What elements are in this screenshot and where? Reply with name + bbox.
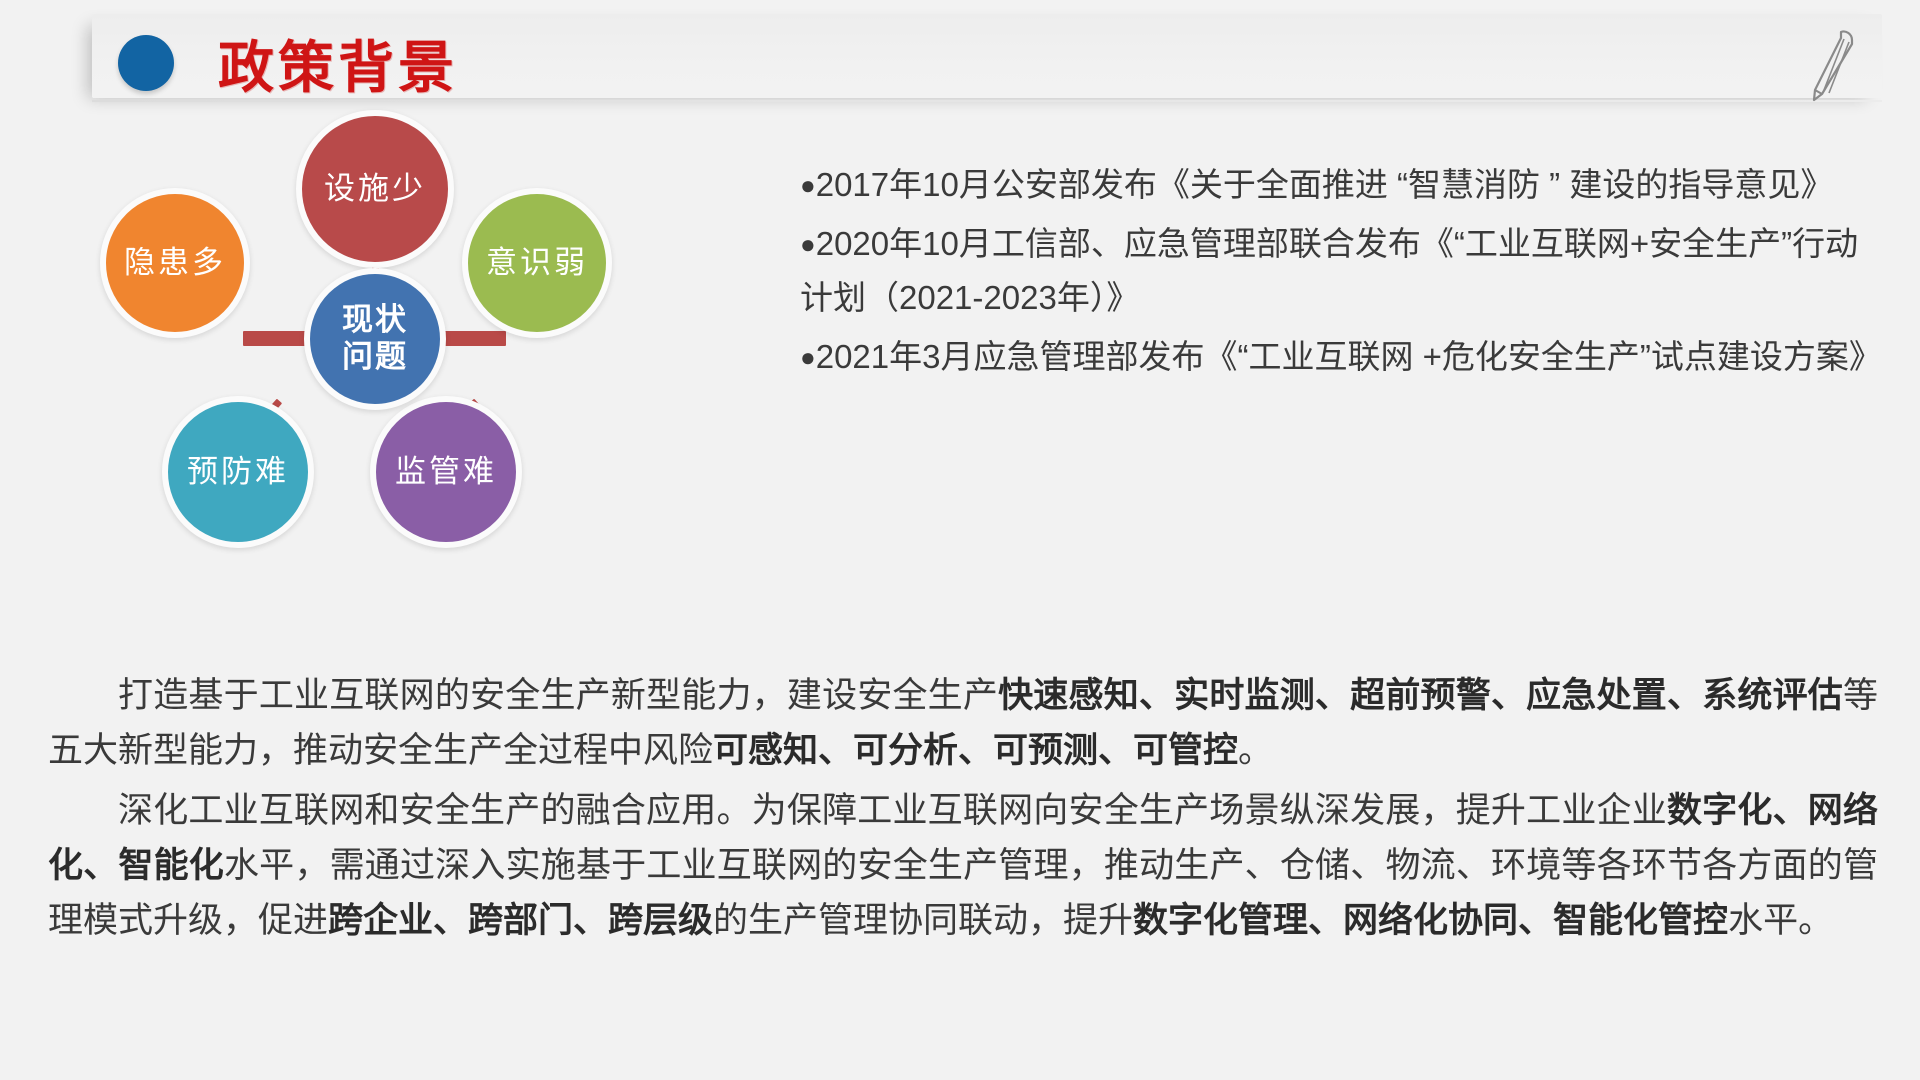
text-run: 。 — [1238, 731, 1273, 770]
text-run: 深化工业互联网和安全生产的融合应用。为保障工业互联网向安全生产场景纵深发展，提升… — [118, 791, 1667, 830]
diagram-node-top-label: 设施少 — [324, 171, 426, 208]
diagram-node-right-label: 意识弱 — [486, 245, 588, 282]
diagram-center-label-line1: 现状 — [342, 302, 408, 339]
policy-bullet-text: 2017年10月公安部发布《关于全面推进 “智慧消防 ” 建设的指导意见》 — [816, 166, 1834, 203]
diagram-node-center[interactable]: 现状 问题 — [304, 268, 446, 410]
para-2: 深化工业互联网和安全生产的融合应用。为保障工业互联网向安全生产场景纵深发展，提升… — [48, 783, 1878, 949]
connector-center-right — [438, 331, 506, 346]
title-bullet-circle-icon — [118, 35, 174, 91]
para-1: 打造基于工业互联网的安全生产新型能力，建设安全生产快速感知、实时监测、超前预警、… — [48, 668, 1878, 779]
pen-icon — [1800, 28, 1860, 104]
diagram-node-right[interactable]: 意识弱 — [462, 188, 612, 338]
diagram-node-bottom-right[interactable]: 监管难 — [370, 396, 522, 548]
policy-bullet-list: ●2017年10月公安部发布《关于全面推进 “智慧消防 ” 建设的指导意见》●2… — [800, 158, 1870, 390]
diagram-node-bottom-right-label: 监管难 — [395, 454, 497, 491]
diagram-center-label-line2: 问题 — [342, 339, 408, 376]
diagram-node-bottom-left[interactable]: 预防难 — [162, 396, 314, 548]
emphasis-run: 跨企业、跨部门、跨层级 — [328, 901, 713, 940]
diagram-node-left[interactable]: 隐患多 — [100, 188, 250, 338]
emphasis-run: 可感知、可分析、可预测、可管控 — [713, 731, 1238, 770]
text-run: 水平。 — [1728, 901, 1833, 940]
policy-bullet-item: ●2020年10月工信部、应急管理部联合发布《“工业互联网+安全生产”行动计划（… — [800, 217, 1870, 324]
body-paragraphs: 打造基于工业互联网的安全生产新型能力，建设安全生产快速感知、实时监测、超前预警、… — [48, 668, 1878, 952]
diagram-node-bottom-left-label: 预防难 — [187, 454, 289, 491]
bullet-dot-icon: ● — [800, 170, 816, 200]
diagram-node-top[interactable]: 设施少 — [296, 110, 454, 268]
policy-bullet-text: 2020年10月工信部、应急管理部联合发布《“工业互联网+安全生产”行动计划（2… — [800, 225, 1858, 315]
slide-header: 政策背景 — [0, 0, 1920, 118]
text-run: 打造基于工业互联网的安全生产新型能力，建设安全生产 — [118, 676, 998, 715]
policy-bullet-item: ●2017年10月公安部发布《关于全面推进 “智慧消防 ” 建设的指导意见》 — [800, 158, 1870, 211]
bullet-dot-icon: ● — [800, 229, 816, 259]
emphasis-run: 快速感知、实时监测、超前预警、应急处置、系统评估 — [998, 676, 1843, 715]
bullet-dot-icon: ● — [800, 342, 816, 372]
page-title: 政策背景 — [218, 23, 458, 104]
current-problems-diagram: 设施少 意识弱 隐患多 预防难 监管难 现状 问题 — [80, 118, 670, 558]
slide-canvas: 政策背景 设施少 意识弱 隐患多 预防难 监管难 — [0, 0, 1920, 1080]
diagram-node-left-label: 隐患多 — [124, 245, 226, 282]
text-run: 的生产管理协同联动，提升 — [713, 901, 1133, 940]
emphasis-run: 数字化管理、网络化协同、智能化管控 — [1133, 901, 1728, 940]
policy-bullet-item: ●2021年3月应急管理部发布《“工业互联网 +危化安全生产”试点建设方案》 — [800, 330, 1870, 383]
connector-center-left — [243, 331, 311, 346]
policy-bullet-text: 2021年3月应急管理部发布《“工业互联网 +危化安全生产”试点建设方案》 — [816, 338, 1882, 375]
